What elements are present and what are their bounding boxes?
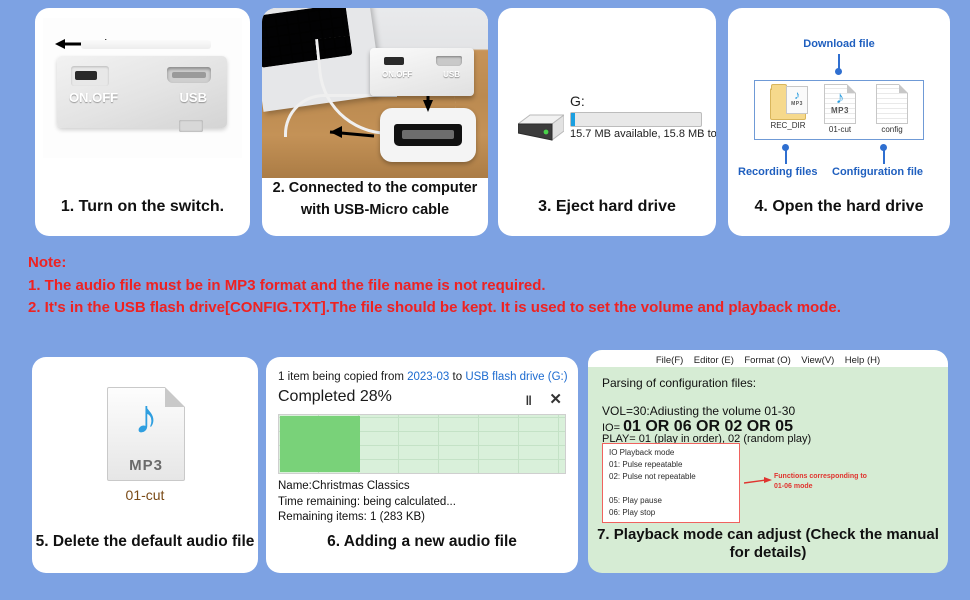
step-3-caption: 3. Eject hard drive xyxy=(498,198,716,216)
copy-details: Name:Christmas Classics Time remaining: … xyxy=(278,479,456,526)
note-line-1: 1. The audio file must be in MP3 format … xyxy=(28,275,948,298)
micro-usb-port xyxy=(167,67,211,83)
copy-detail-items: Remaining items: 1 (283 KB) xyxy=(278,510,456,526)
copy-header-line: 1 item being copied from 2023-03 to USB … xyxy=(278,371,568,383)
file-item-config[interactable]: config xyxy=(869,84,915,134)
copy-progress-bar xyxy=(278,414,566,474)
mode-line-2: 02: Pulse not repeatable xyxy=(609,472,696,481)
power-switch-well xyxy=(71,66,109,86)
mp3-file-icon-large[interactable]: ♪ MP3 xyxy=(107,387,185,481)
music-note-icon: ♪ xyxy=(825,89,855,106)
mode-line-4: 05: Play pause xyxy=(609,496,662,505)
desk-photo-step2: ON.OFF USB xyxy=(262,8,488,178)
menu-item-view[interactable]: View(V) xyxy=(801,352,834,369)
step-panel-2: ON.OFF USB 2. Connected to the computer … xyxy=(262,8,488,236)
file-name-01-cut: 01-cut xyxy=(817,125,863,134)
step-4-caption: 4. Open the hard drive xyxy=(728,198,950,216)
onoff-label: ON.OFF xyxy=(69,90,118,105)
mp3-badge-rec: MP3 xyxy=(787,101,807,107)
step-panel-6: 1 item being copied from 2023-03 to USB … xyxy=(266,357,578,573)
step-panel-7: File(F) Editor (E) Format (O) View(V) He… xyxy=(588,350,948,573)
red-arrow-icon xyxy=(744,477,772,485)
device-top-edge xyxy=(81,40,211,49)
drive-capacity-fill xyxy=(571,113,575,126)
configuration-file-annotation: Configuration file xyxy=(832,166,923,178)
drive-capacity-bar xyxy=(570,112,702,127)
step-7-caption-line1: 7. Playback mode can adjust (Check the m… xyxy=(588,526,948,544)
recording-files-annotation: Recording files xyxy=(738,166,817,178)
note-line-2: 2. It's in the USB flash drive[CONFIG.TX… xyxy=(28,297,948,320)
copy-destination[interactable]: USB flash drive (G:) xyxy=(465,371,567,383)
io-mode-box: IO Playback mode 01: Pulse repeatable 02… xyxy=(602,443,740,523)
menu-item-help[interactable]: Help (H) xyxy=(845,352,880,369)
mp3-badge: MP3 xyxy=(108,457,184,474)
copy-detail-time: Time remaining: being calculated... xyxy=(278,495,456,511)
device-body: ON.OFF USB xyxy=(57,56,227,128)
file-name-label: 01-cut xyxy=(32,487,258,503)
mp3-badge-cut: MP3 xyxy=(825,106,855,115)
mini-page-icon: ♪ MP3 xyxy=(786,86,808,114)
config-heading: Parsing of configuration files: xyxy=(602,376,756,390)
dot-top xyxy=(835,68,842,75)
editor-menu-bar: File(F) Editor (E) Format (O) View(V) He… xyxy=(588,350,948,367)
mode-line-1: 01: Pulse repeatable xyxy=(609,460,682,469)
step-2-caption-line2: with USB-Micro cable xyxy=(262,202,488,219)
copy-completed-label: Completed 28% xyxy=(278,388,392,406)
usb-label: USB xyxy=(180,90,207,105)
note-block: Note: 1. The audio file must be in MP3 f… xyxy=(28,252,948,320)
device-photo-step1: ON.OFF USB xyxy=(43,18,242,158)
connector-bottom-left xyxy=(785,150,787,164)
step-1-caption: 1. Turn on the switch. xyxy=(35,198,250,216)
file-item-rec-dir[interactable]: ♪ MP3 REC_DIR xyxy=(765,84,811,130)
step-7-caption-line2: for details) xyxy=(588,544,948,562)
folder-icon: ♪ MP3 xyxy=(770,88,806,120)
device-tab xyxy=(179,120,203,132)
file-name-rec-dir: REC_DIR xyxy=(765,121,811,130)
step-panel-3: G: 15.7 MB available, 15.8 MB total 3. E… xyxy=(498,8,716,236)
file-name-config: config xyxy=(869,125,915,134)
menu-item-editor[interactable]: Editor (E) xyxy=(694,352,734,369)
text-file-icon xyxy=(876,84,908,124)
copy-detail-name: Name:Christmas Classics xyxy=(278,479,456,495)
note-title: Note: xyxy=(28,252,948,275)
copy-source[interactable]: 2023-03 xyxy=(407,371,449,383)
mode-line-0: IO Playback mode xyxy=(609,448,674,457)
connector-bottom-right xyxy=(883,150,885,164)
copy-header-middle: to xyxy=(449,371,465,383)
copy-progress-fill xyxy=(280,416,360,472)
download-file-annotation: Download file xyxy=(728,38,950,50)
pause-button[interactable]: ‖ xyxy=(526,393,532,408)
step-5-caption: 5. Delete the default audio file xyxy=(32,533,258,551)
step-panel-4: Download file ♪ MP3 REC_DIR ♪ MP3 01-cut… xyxy=(728,8,950,236)
step-panel-1: ON.OFF USB 1. Turn on the switch. xyxy=(35,8,250,236)
music-note-icon: ♪ xyxy=(787,89,807,101)
file-item-01-cut[interactable]: ♪ MP3 01-cut xyxy=(817,84,863,134)
power-switch-nub xyxy=(75,71,97,80)
step-7-caption: 7. Playback mode can adjust (Check the m… xyxy=(588,526,948,562)
mode-callout-line1: Functions corresponding to xyxy=(774,472,867,482)
close-button[interactable]: ✕ xyxy=(549,390,562,408)
menu-item-file[interactable]: File(F) xyxy=(656,352,683,369)
mp3-file-icon: ♪ MP3 xyxy=(824,84,856,124)
step-panel-5: ♪ MP3 01-cut 5. Delete the default audio… xyxy=(32,357,258,573)
step-2-caption-line1: 2. Connected to the computer xyxy=(262,180,488,197)
mode-callout: Functions corresponding to 01-06 mode xyxy=(774,472,867,492)
mode-line-5: 06: Play stop xyxy=(609,508,655,517)
callout-arrows xyxy=(262,8,488,178)
menu-item-format[interactable]: Format (O) xyxy=(744,352,790,369)
music-note-icon: ♪ xyxy=(108,394,184,442)
step-6-caption: 6. Adding a new audio file xyxy=(266,533,578,551)
mode-callout-line2: 01-06 mode xyxy=(774,482,867,492)
vol-line: VOL=30:Adiusting the volume 01-30 xyxy=(602,404,795,418)
drive-letter: G: xyxy=(570,93,585,109)
file-explorer-window: ♪ MP3 REC_DIR ♪ MP3 01-cut config xyxy=(754,80,924,140)
drive-capacity-text: 15.7 MB available, 15.8 MB total xyxy=(570,128,716,140)
copy-header-prefix: 1 item being copied from xyxy=(278,371,407,383)
hard-drive-icon xyxy=(518,112,564,142)
